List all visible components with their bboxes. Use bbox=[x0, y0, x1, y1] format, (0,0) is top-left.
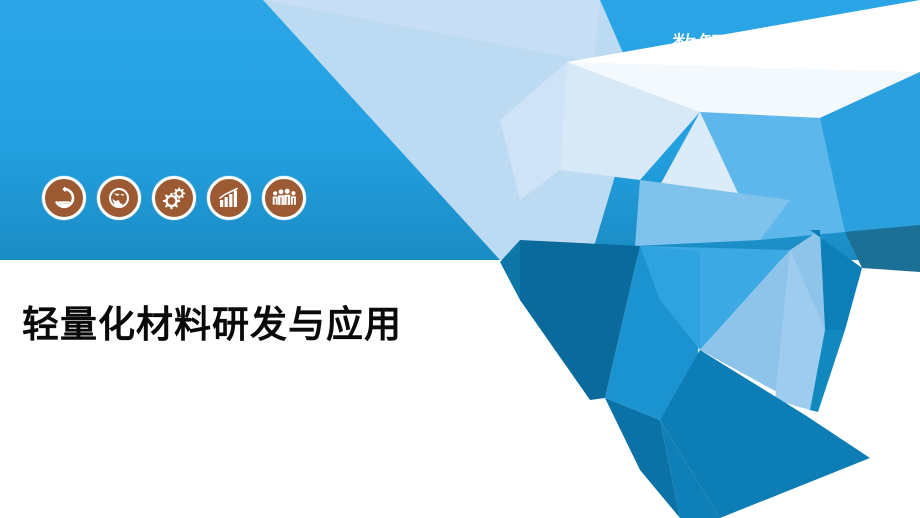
tagline-text: 数智创新 变革未来 bbox=[672, 26, 896, 62]
icon-badge-row bbox=[42, 176, 306, 220]
low-poly-decoration bbox=[0, 0, 920, 518]
globe-icon[interactable] bbox=[97, 176, 141, 220]
recycle-arrows-icon[interactable] bbox=[42, 176, 86, 220]
bar-chart-growth-icon[interactable] bbox=[207, 176, 251, 220]
presentation-slide: 数智创新 变革未来 bbox=[0, 0, 920, 518]
people-group-icon[interactable] bbox=[262, 176, 306, 220]
gears-icon[interactable] bbox=[152, 176, 196, 220]
page-title: 轻量化材料研发与应用 bbox=[22, 294, 402, 348]
